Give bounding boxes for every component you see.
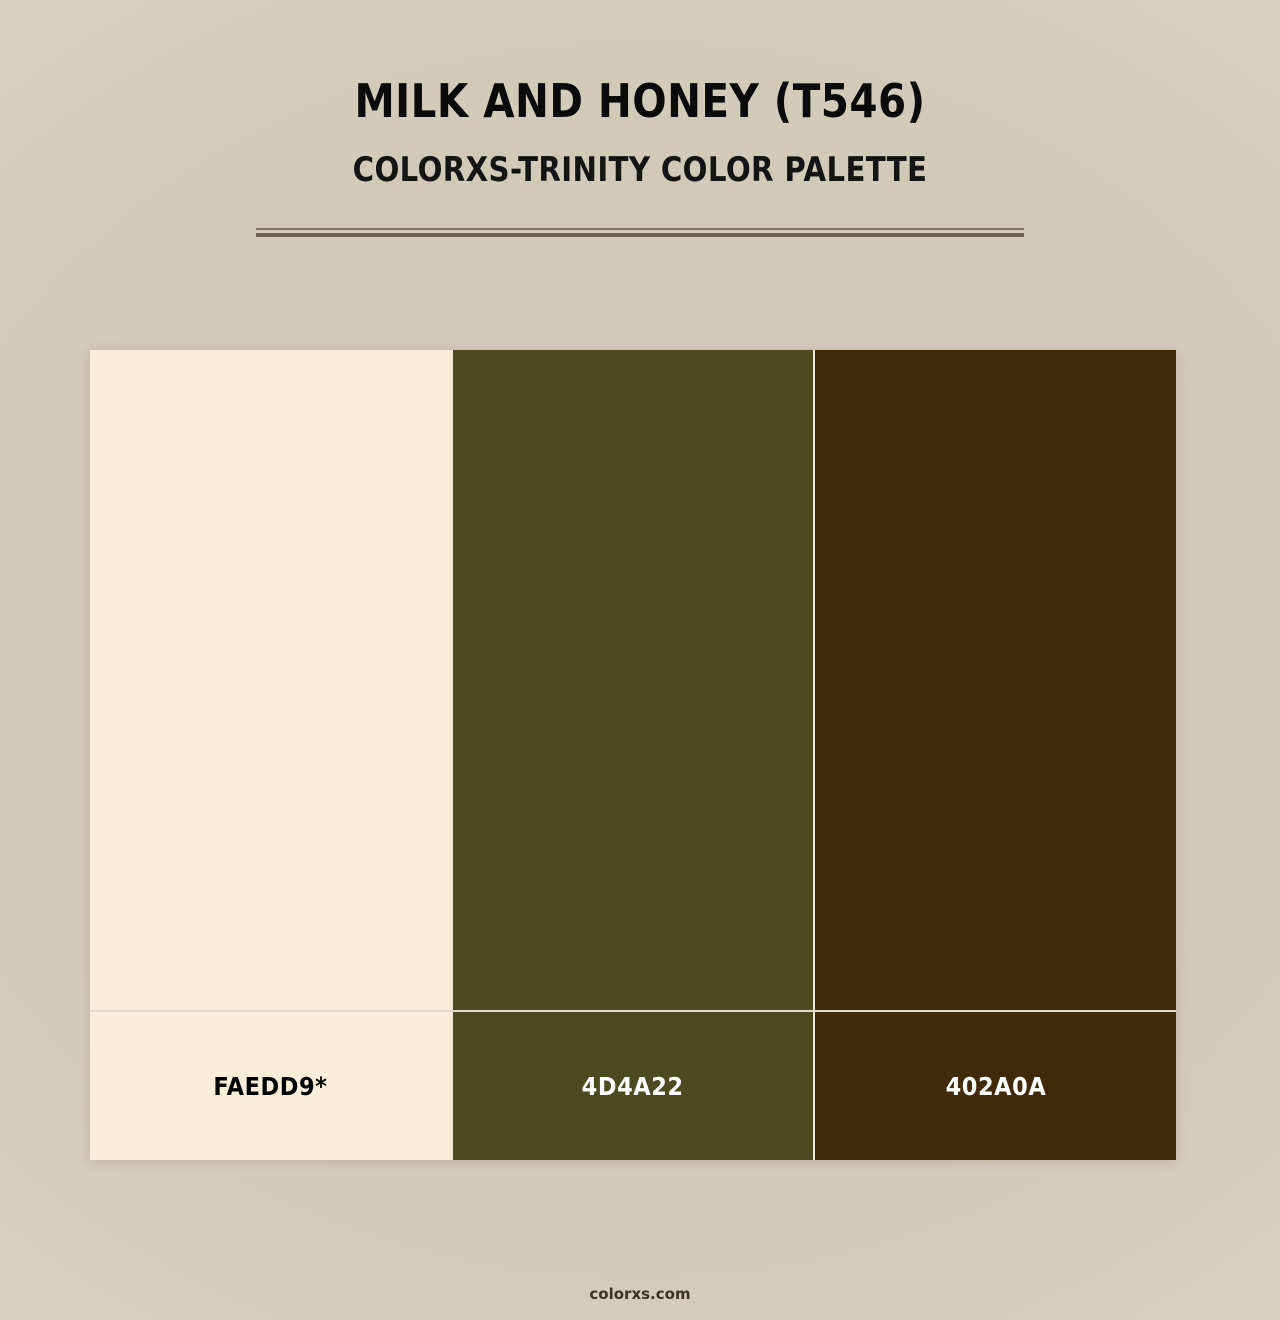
palette-panel: FAEDD9* 4D4A22 402A0A: [90, 350, 1176, 1160]
swatch-row: [90, 350, 1176, 1010]
color-palette-page: MILK AND HONEY (T546) COLORXS-TRINITY CO…: [0, 0, 1280, 1320]
header: MILK AND HONEY (T546) COLORXS-TRINITY CO…: [0, 0, 1280, 190]
swatch-block-3[interactable]: [813, 350, 1176, 1010]
swatch-label-cell-2[interactable]: 4D4A22: [451, 1012, 814, 1160]
swatch-label-cell-1[interactable]: FAEDD9*: [90, 1012, 451, 1160]
swatch-block-1[interactable]: [90, 350, 451, 1010]
swatch-block-2[interactable]: [451, 350, 814, 1010]
hex-code-3: 402A0A: [945, 1072, 1046, 1101]
hex-code-2: 4D4A22: [582, 1072, 684, 1101]
label-row: FAEDD9* 4D4A22 402A0A: [90, 1010, 1176, 1160]
divider-rule-thick: [256, 233, 1024, 237]
hex-code-1: FAEDD9*: [213, 1072, 327, 1101]
swatch-label-cell-3[interactable]: 402A0A: [813, 1012, 1176, 1160]
page-subtitle: COLORXS-TRINITY COLOR PALETTE: [90, 128, 1191, 190]
footer-site-name: colorxs.com: [0, 1285, 1280, 1303]
page-title: MILK AND HONEY (T546): [77, 0, 1203, 128]
divider-rule-thin: [256, 228, 1024, 230]
header-divider: [256, 228, 1024, 237]
